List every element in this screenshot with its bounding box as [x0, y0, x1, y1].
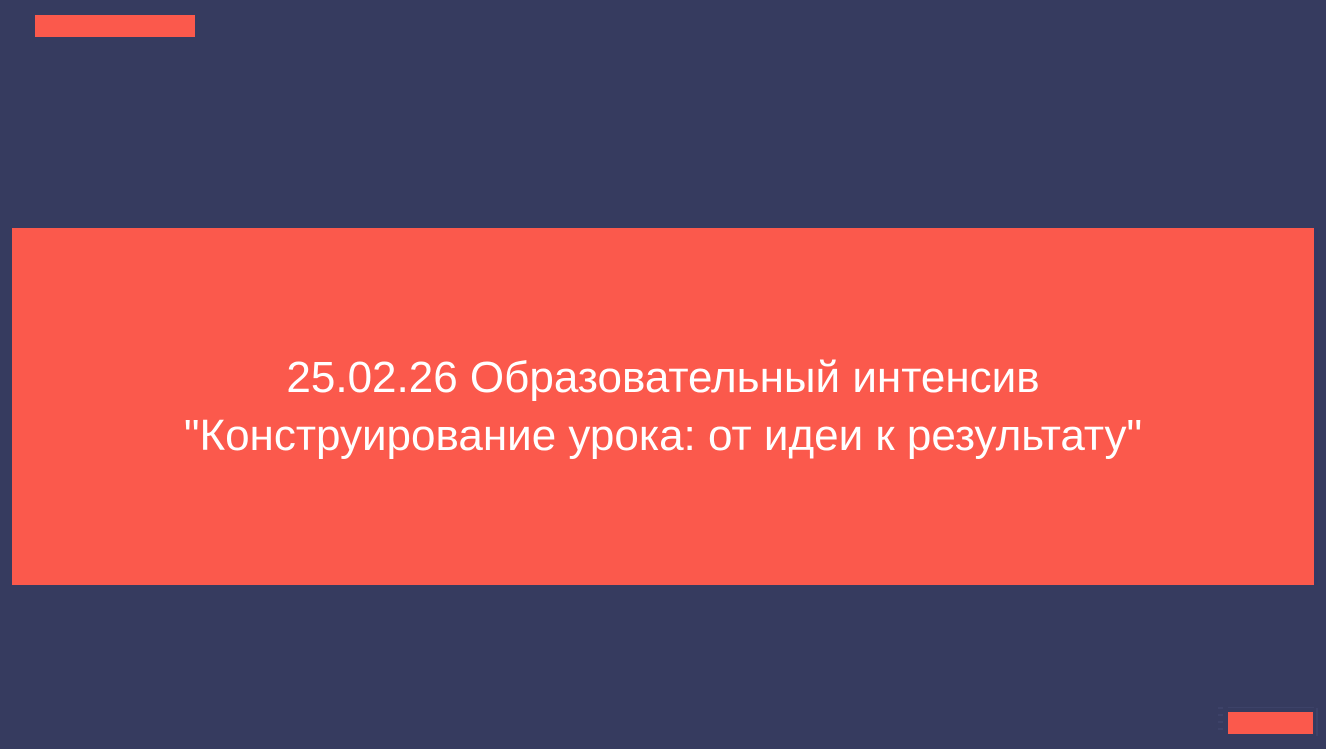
selection-outline-right	[1316, 708, 1318, 736]
title-panel: 25.02.26 Образовательный интенсив "Конст…	[12, 228, 1314, 585]
selection-handle-mark	[1218, 721, 1223, 723]
selection-handle-mark	[1218, 714, 1223, 716]
bottom-accent-bar	[1228, 712, 1313, 734]
selection-handle-mark	[1218, 728, 1223, 730]
top-accent-bar	[35, 15, 195, 37]
selection-handle-mark	[1218, 707, 1223, 709]
slide-title: 25.02.26 Образовательный интенсив "Конст…	[184, 349, 1142, 463]
slide-canvas: 25.02.26 Образовательный интенсив "Конст…	[0, 0, 1326, 749]
selection-outline-top	[1228, 707, 1314, 708]
panel-scrollbar-thumb[interactable]	[1314, 228, 1318, 585]
